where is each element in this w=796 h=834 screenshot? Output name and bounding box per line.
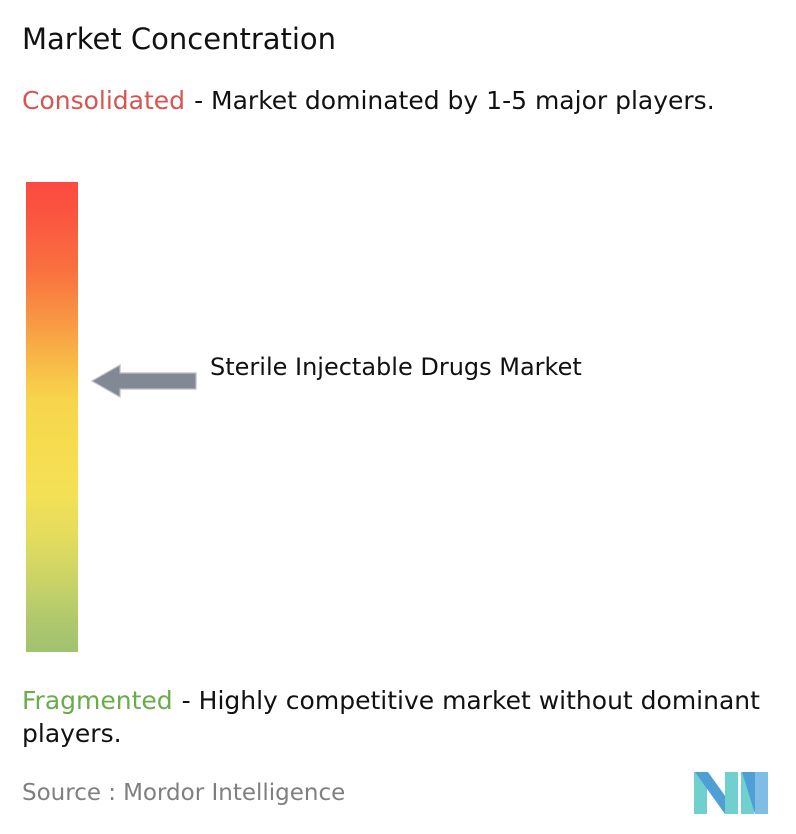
fragmented-description: Fragmented- Highly competitive market wi… bbox=[22, 684, 782, 750]
source-value: Mordor Intelligence bbox=[123, 780, 345, 806]
page-title: Market Concentration bbox=[22, 20, 336, 58]
consolidated-dash: - bbox=[194, 86, 203, 115]
consolidated-keyword: Consolidated bbox=[22, 86, 185, 115]
fragmented-dash: - bbox=[182, 686, 191, 715]
arrow-left-icon bbox=[90, 360, 198, 402]
fragmented-keyword: Fragmented bbox=[22, 686, 173, 715]
source-attribution: Source :Mordor Intelligence bbox=[22, 778, 345, 808]
mordor-intelligence-logo bbox=[694, 770, 768, 816]
source-label: Source : bbox=[22, 780, 116, 806]
consolidated-description: Consolidated- Market dominated by 1-5 ma… bbox=[22, 84, 766, 117]
market-concentration-infographic: Market Concentration Consolidated- Marke… bbox=[0, 0, 796, 834]
callout-label: Sterile Injectable Drugs Market bbox=[210, 350, 630, 385]
concentration-gradient-bar bbox=[26, 182, 78, 652]
consolidated-text: Market dominated by 1-5 major players. bbox=[211, 86, 715, 115]
